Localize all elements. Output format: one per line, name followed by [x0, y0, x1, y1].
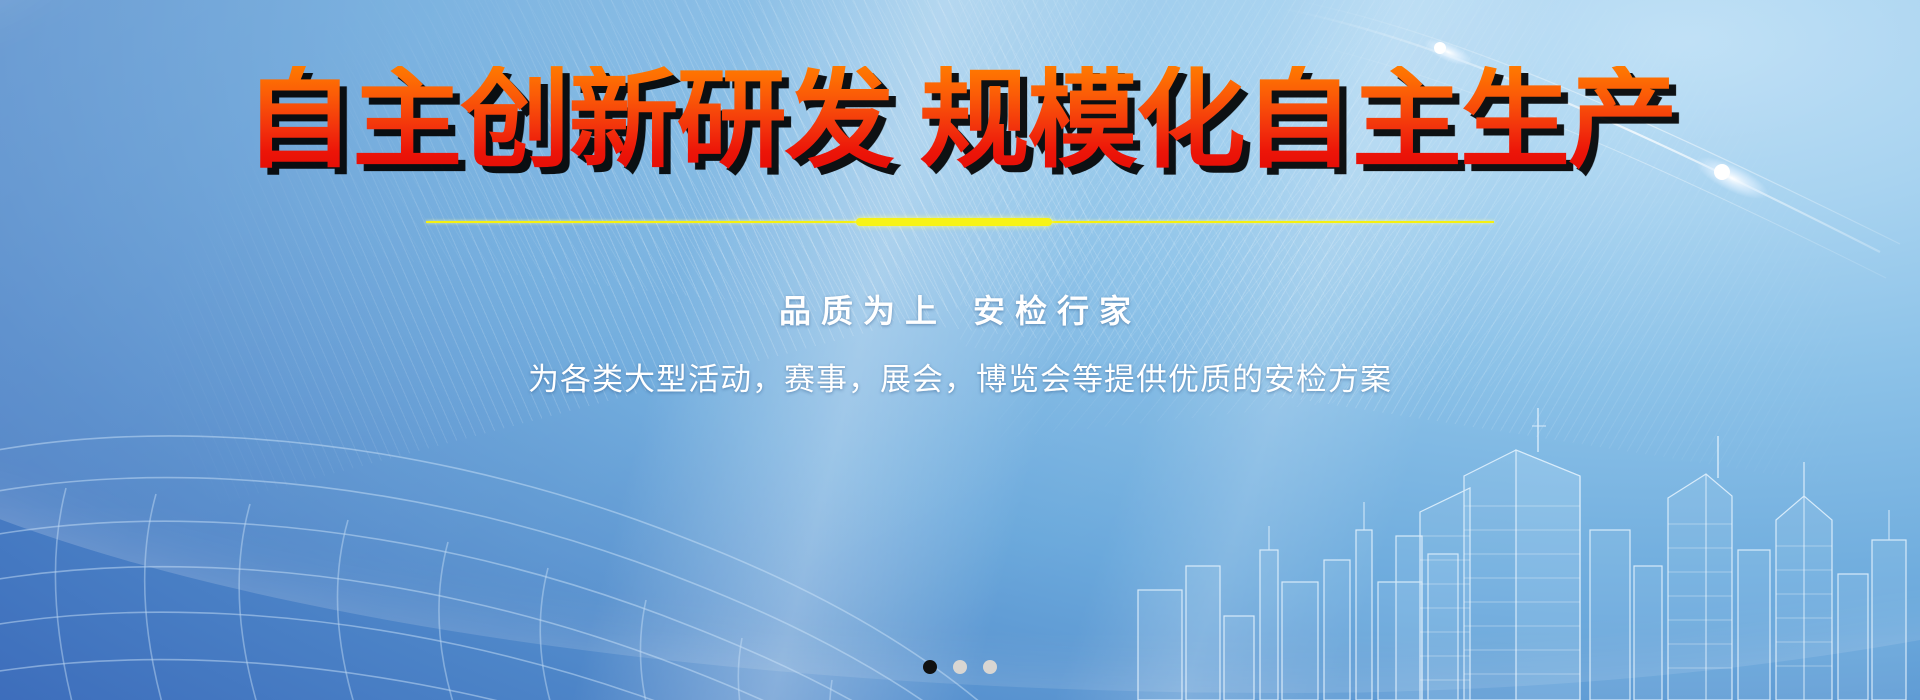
page-title: 自主创新研发规模化自主生产	[244, 66, 1676, 176]
headline-part-2: 规模化自主生产	[919, 58, 1676, 183]
headline-part-1: 自主创新研发	[244, 58, 893, 183]
title-divider	[426, 218, 1494, 226]
carousel-dot-3[interactable]	[983, 660, 997, 674]
subtitle-primary-right: 安检行家	[973, 293, 1141, 329]
carousel-dot-2[interactable]	[953, 660, 967, 674]
subtitle-secondary: 为各类大型活动，赛事，展会，博览会等提供优质的安检方案	[528, 354, 1392, 399]
subtitle-primary: 品质为上安检行家	[779, 286, 1141, 332]
subtitle-primary-left: 品质为上	[779, 293, 947, 329]
divider-accent-bar	[856, 218, 1052, 226]
banner-content: 自主创新研发规模化自主生产 品质为上安检行家 为各类大型活动，赛事，展会，博览会…	[0, 0, 1920, 700]
carousel-indicators[interactable]	[923, 660, 997, 674]
carousel-dot-1[interactable]	[923, 660, 937, 674]
hero-banner: 自主创新研发规模化自主生产 品质为上安检行家 为各类大型活动，赛事，展会，博览会…	[0, 0, 1920, 700]
